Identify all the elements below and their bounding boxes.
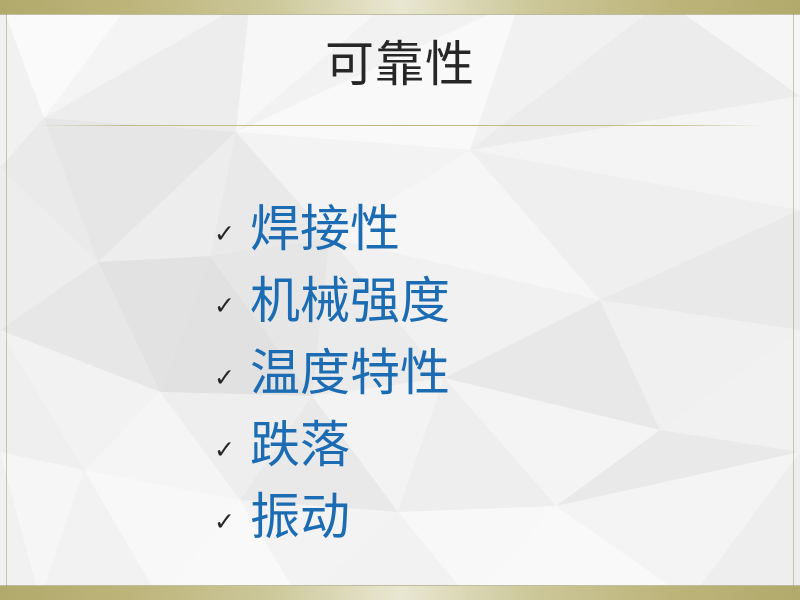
frame-hairline-bottom — [0, 585, 800, 586]
list-item-label: 跌落 — [250, 416, 350, 474]
list-item: ✓ 跌落 — [214, 402, 754, 474]
list-item: ✓ 温度特性 — [214, 330, 754, 402]
list-item-label: 焊接性 — [250, 200, 400, 258]
list-item: ✓ 焊接性 — [214, 186, 754, 258]
frame-band-top — [0, 0, 800, 14]
list-item: ✓ 振动 — [214, 474, 754, 546]
checkmark-icon: ✓ — [214, 365, 250, 402]
list-item: ✓ 机械强度 — [214, 258, 754, 330]
checkmark-icon: ✓ — [214, 221, 250, 258]
slide: 可靠性 ✓ 焊接性 ✓ 机械强度 ✓ 温度特性 ✓ 跌落 ✓ 振动 — [0, 0, 800, 600]
slide-title: 可靠性 — [0, 36, 800, 94]
list-item-label: 温度特性 — [250, 344, 450, 402]
frame-rule-left — [6, 14, 7, 586]
frame-hairline-top — [0, 14, 800, 15]
frame-rule-right — [793, 14, 794, 586]
list-item-label: 振动 — [250, 488, 350, 546]
frame-band-bottom — [0, 586, 800, 600]
checkmark-icon: ✓ — [214, 293, 250, 330]
checkmark-icon: ✓ — [214, 509, 250, 546]
title-underline-rule — [42, 125, 758, 126]
bullet-list: ✓ 焊接性 ✓ 机械强度 ✓ 温度特性 ✓ 跌落 ✓ 振动 — [214, 186, 754, 546]
checkmark-icon: ✓ — [214, 437, 250, 474]
list-item-label: 机械强度 — [250, 272, 450, 330]
